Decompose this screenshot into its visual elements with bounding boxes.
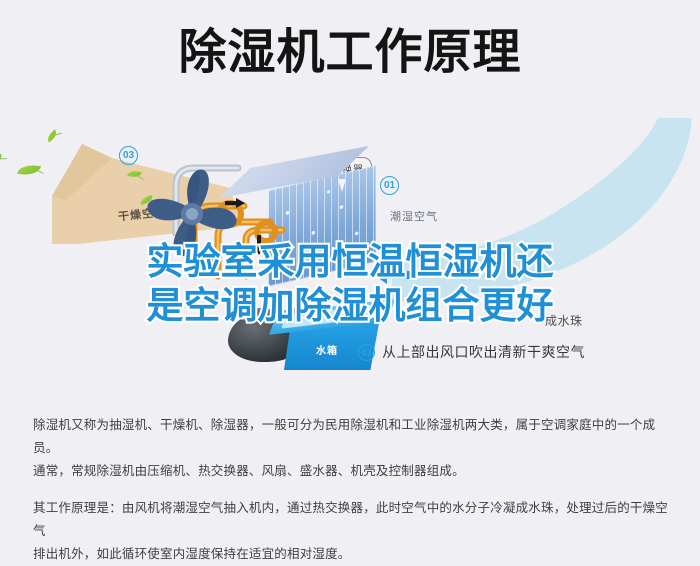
water-tank-label: 水箱	[316, 342, 338, 357]
fan-icon	[140, 168, 244, 260]
leaf-icon	[45, 130, 59, 143]
page-root: 除湿机工作原理 干燥空气 潮湿空气 03 02 01 热交换器	[0, 0, 700, 566]
step-badge-03: 03	[119, 146, 138, 165]
paragraph-1-line-2: 通常，常规除湿机由压缩机、热交换器、风扇、盛水器、机壳及控制器组成。	[33, 460, 669, 483]
page-title: 除湿机工作原理	[178, 28, 521, 78]
air-inlet-arrow-icon	[374, 266, 414, 284]
paragraph-2-line-2: 排出机外，如此循环使室内湿度保持在适宜的相对湿度。	[33, 543, 669, 566]
step-badge-03-caption: 03	[358, 344, 375, 361]
paragraph-gap	[33, 483, 669, 497]
page-title-container: 除湿机工作原理	[0, 28, 700, 78]
leaf-icon	[17, 162, 41, 178]
paragraph-2-line-1: 其工作原理是：由风机将潮湿空气抽入机内，通过热交换器，此时空气中的水分子冷凝成水…	[33, 497, 669, 543]
outlet-caption: 从上部出风口吹出清新干爽空气	[382, 342, 585, 362]
body-copy: 除湿机又称为抽湿机、干燥机、除湿器，一般可分为民用除湿机和工业除湿机两大类，属于…	[33, 414, 669, 566]
water-tank: 水箱	[276, 304, 388, 376]
leaf-icon	[0, 154, 4, 169]
principle-diagram: 干燥空气 潮湿空气 03 02 01 热交换器	[0, 118, 700, 400]
condense-caption: 成水珠	[545, 312, 583, 329]
paragraph-1-line-1: 除湿机又称为抽湿机、干燥机、除湿器，一般可分为民用除湿机和工业除湿机两大类，属于…	[33, 414, 669, 460]
